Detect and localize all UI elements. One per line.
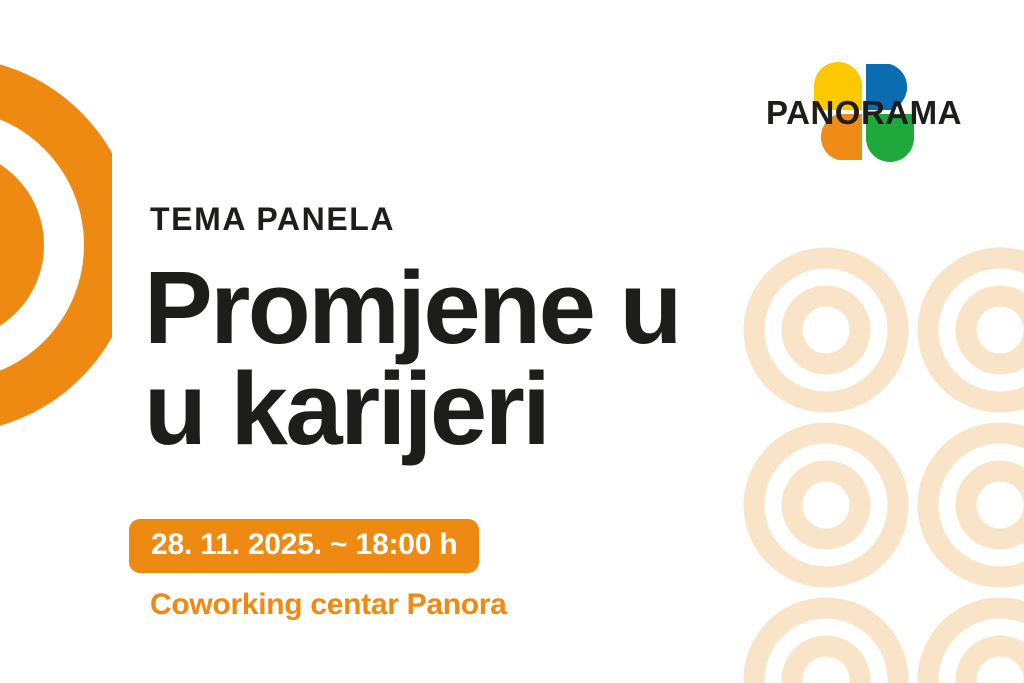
- panorama-logo: PANORAMA: [748, 42, 980, 182]
- poster-content: TEMA PANELA Promjene u u karijeri 28. 11…: [150, 0, 810, 683]
- headline-line-2: u karijeri: [144, 359, 680, 460]
- headline-line-1: Promjene u: [144, 258, 680, 359]
- venue-label: Coworking centar Panora: [150, 590, 507, 620]
- page-title: Promjene u u karijeri: [144, 258, 680, 460]
- date-time-badge: 28. 11. 2025. ~ 18:00 h: [129, 519, 479, 573]
- event-poster: TEMA PANELA Promjene u u karijeri 28. 11…: [0, 0, 1024, 683]
- panorama-wordmark: PANORAMA: [748, 42, 980, 182]
- concentric-rings-orange-graphic: [0, 0, 112, 470]
- kicker-label: TEMA PANELA: [150, 203, 395, 235]
